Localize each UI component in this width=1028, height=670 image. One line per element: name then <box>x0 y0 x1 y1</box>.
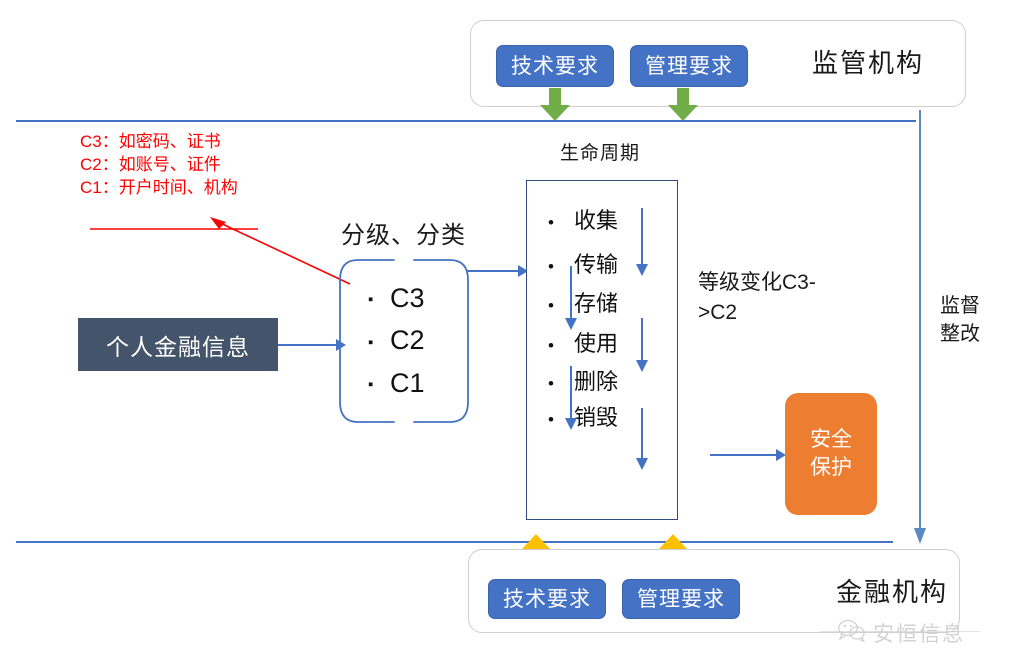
lifecycle-stage-label: 传输 <box>574 252 618 277</box>
watermark-text: 安恒信息 <box>873 618 965 648</box>
wechat-icon <box>838 618 866 648</box>
security-protection-line-1: 安全 <box>810 426 852 454</box>
lifecycle-to-protection-arrow-icon <box>710 444 786 466</box>
bottom-boundary-line <box>16 541 893 543</box>
lifecycle-stage-label: 销毁 <box>574 405 618 430</box>
classification-heading: 分级、分类 <box>341 215 466 250</box>
institution-technical-requirement-label: 技术要求 <box>503 589 591 610</box>
supervision-line-1: 监督 <box>940 292 980 320</box>
institution-management-requirement-label: 管理要求 <box>637 589 725 610</box>
regulator-management-requirement-label: 管理要求 <box>645 56 733 77</box>
lifecycle-inner-right-arrows-icon <box>634 208 650 474</box>
annotation-pointer-arrow-icon <box>80 205 360 290</box>
lifecycle-stage-item: •存储 <box>548 286 618 318</box>
top-boundary-line <box>16 120 916 122</box>
classification-annotation: C3：如密码、证书 C2：如账号、证件 C1：开户时间、机构 <box>80 130 238 199</box>
classification-level-label: C2 <box>390 325 425 355</box>
lifecycle-stage-item: •销毁 <box>548 400 618 432</box>
supervision-label: 监督 整改 <box>940 292 980 348</box>
annotation-line-c1: C1：开户时间、机构 <box>80 176 238 199</box>
regulator-label: 监管机构 <box>812 43 924 80</box>
security-protection-line-2: 保护 <box>810 454 852 482</box>
lifecycle-stage-item: •使用 <box>548 326 618 358</box>
regulator-technical-requirement-label: 技术要求 <box>511 56 599 77</box>
green-down-arrow-technical-icon <box>538 88 572 122</box>
lifecycle-stage-label: 存储 <box>574 291 618 316</box>
watermark: 安恒信息 <box>838 618 965 648</box>
annotation-line-c3: C3：如密码、证书 <box>80 130 238 153</box>
supervision-line-2: 整改 <box>940 320 980 348</box>
lifecycle-stage-item: •传输 <box>548 247 618 279</box>
institution-management-requirement-button[interactable]: 管理要求 <box>622 579 740 619</box>
classification-level-label: C1 <box>390 368 425 398</box>
classification-level-list: ▪C3 ▪C2 ▪C1 <box>368 278 425 405</box>
classification-level-item: ▪C3 <box>368 278 425 320</box>
classification-level-item: ▪C1 <box>368 363 425 405</box>
level-change-line-2: >C2 <box>698 298 816 328</box>
lifecycle-stage-label: 删除 <box>574 369 618 394</box>
square-bullet-icon: ▪ <box>368 322 390 363</box>
classification-level-item: ▪C2 <box>368 320 425 362</box>
square-bullet-icon: ▪ <box>368 279 390 320</box>
classification-level-label: C3 <box>390 283 425 313</box>
financial-institution-label: 金融机构 <box>836 572 948 609</box>
lifecycle-stage-label: 使用 <box>574 331 618 356</box>
lifecycle-stage-item: •收集 <box>548 203 618 235</box>
bullet-icon: • <box>548 213 574 233</box>
square-bullet-icon: ▪ <box>368 364 390 405</box>
green-down-arrow-management-icon <box>666 88 700 122</box>
annotation-line-c2: C2：如账号、证件 <box>80 153 238 176</box>
diagram-canvas: 技术要求 管理要求 监管机构 C3：如密码、证书 C2：如账号、证件 C1：开户… <box>0 0 1028 670</box>
regulator-management-requirement-button[interactable]: 管理要求 <box>630 45 748 87</box>
lifecycle-stage-item: •删除 <box>548 364 618 396</box>
institution-technical-requirement-button[interactable]: 技术要求 <box>488 579 606 619</box>
lifecycle-inner-left-arrows-icon <box>563 266 579 434</box>
lifecycle-heading: 生命周期 <box>560 138 640 165</box>
personal-financial-info-box: 个人金融信息 <box>78 318 278 371</box>
regulator-technical-requirement-button[interactable]: 技术要求 <box>496 45 614 87</box>
lifecycle-stage-label: 收集 <box>574 208 618 233</box>
classification-to-lifecycle-arrow-icon <box>466 260 528 282</box>
personal-financial-info-label: 个人金融信息 <box>106 328 250 362</box>
level-change-line-1: 等级变化C3- <box>698 268 816 298</box>
supervision-flow-line-icon <box>912 110 928 550</box>
level-change-note: 等级变化C3- >C2 <box>698 268 816 328</box>
security-protection-box: 安全 保护 <box>785 393 877 515</box>
